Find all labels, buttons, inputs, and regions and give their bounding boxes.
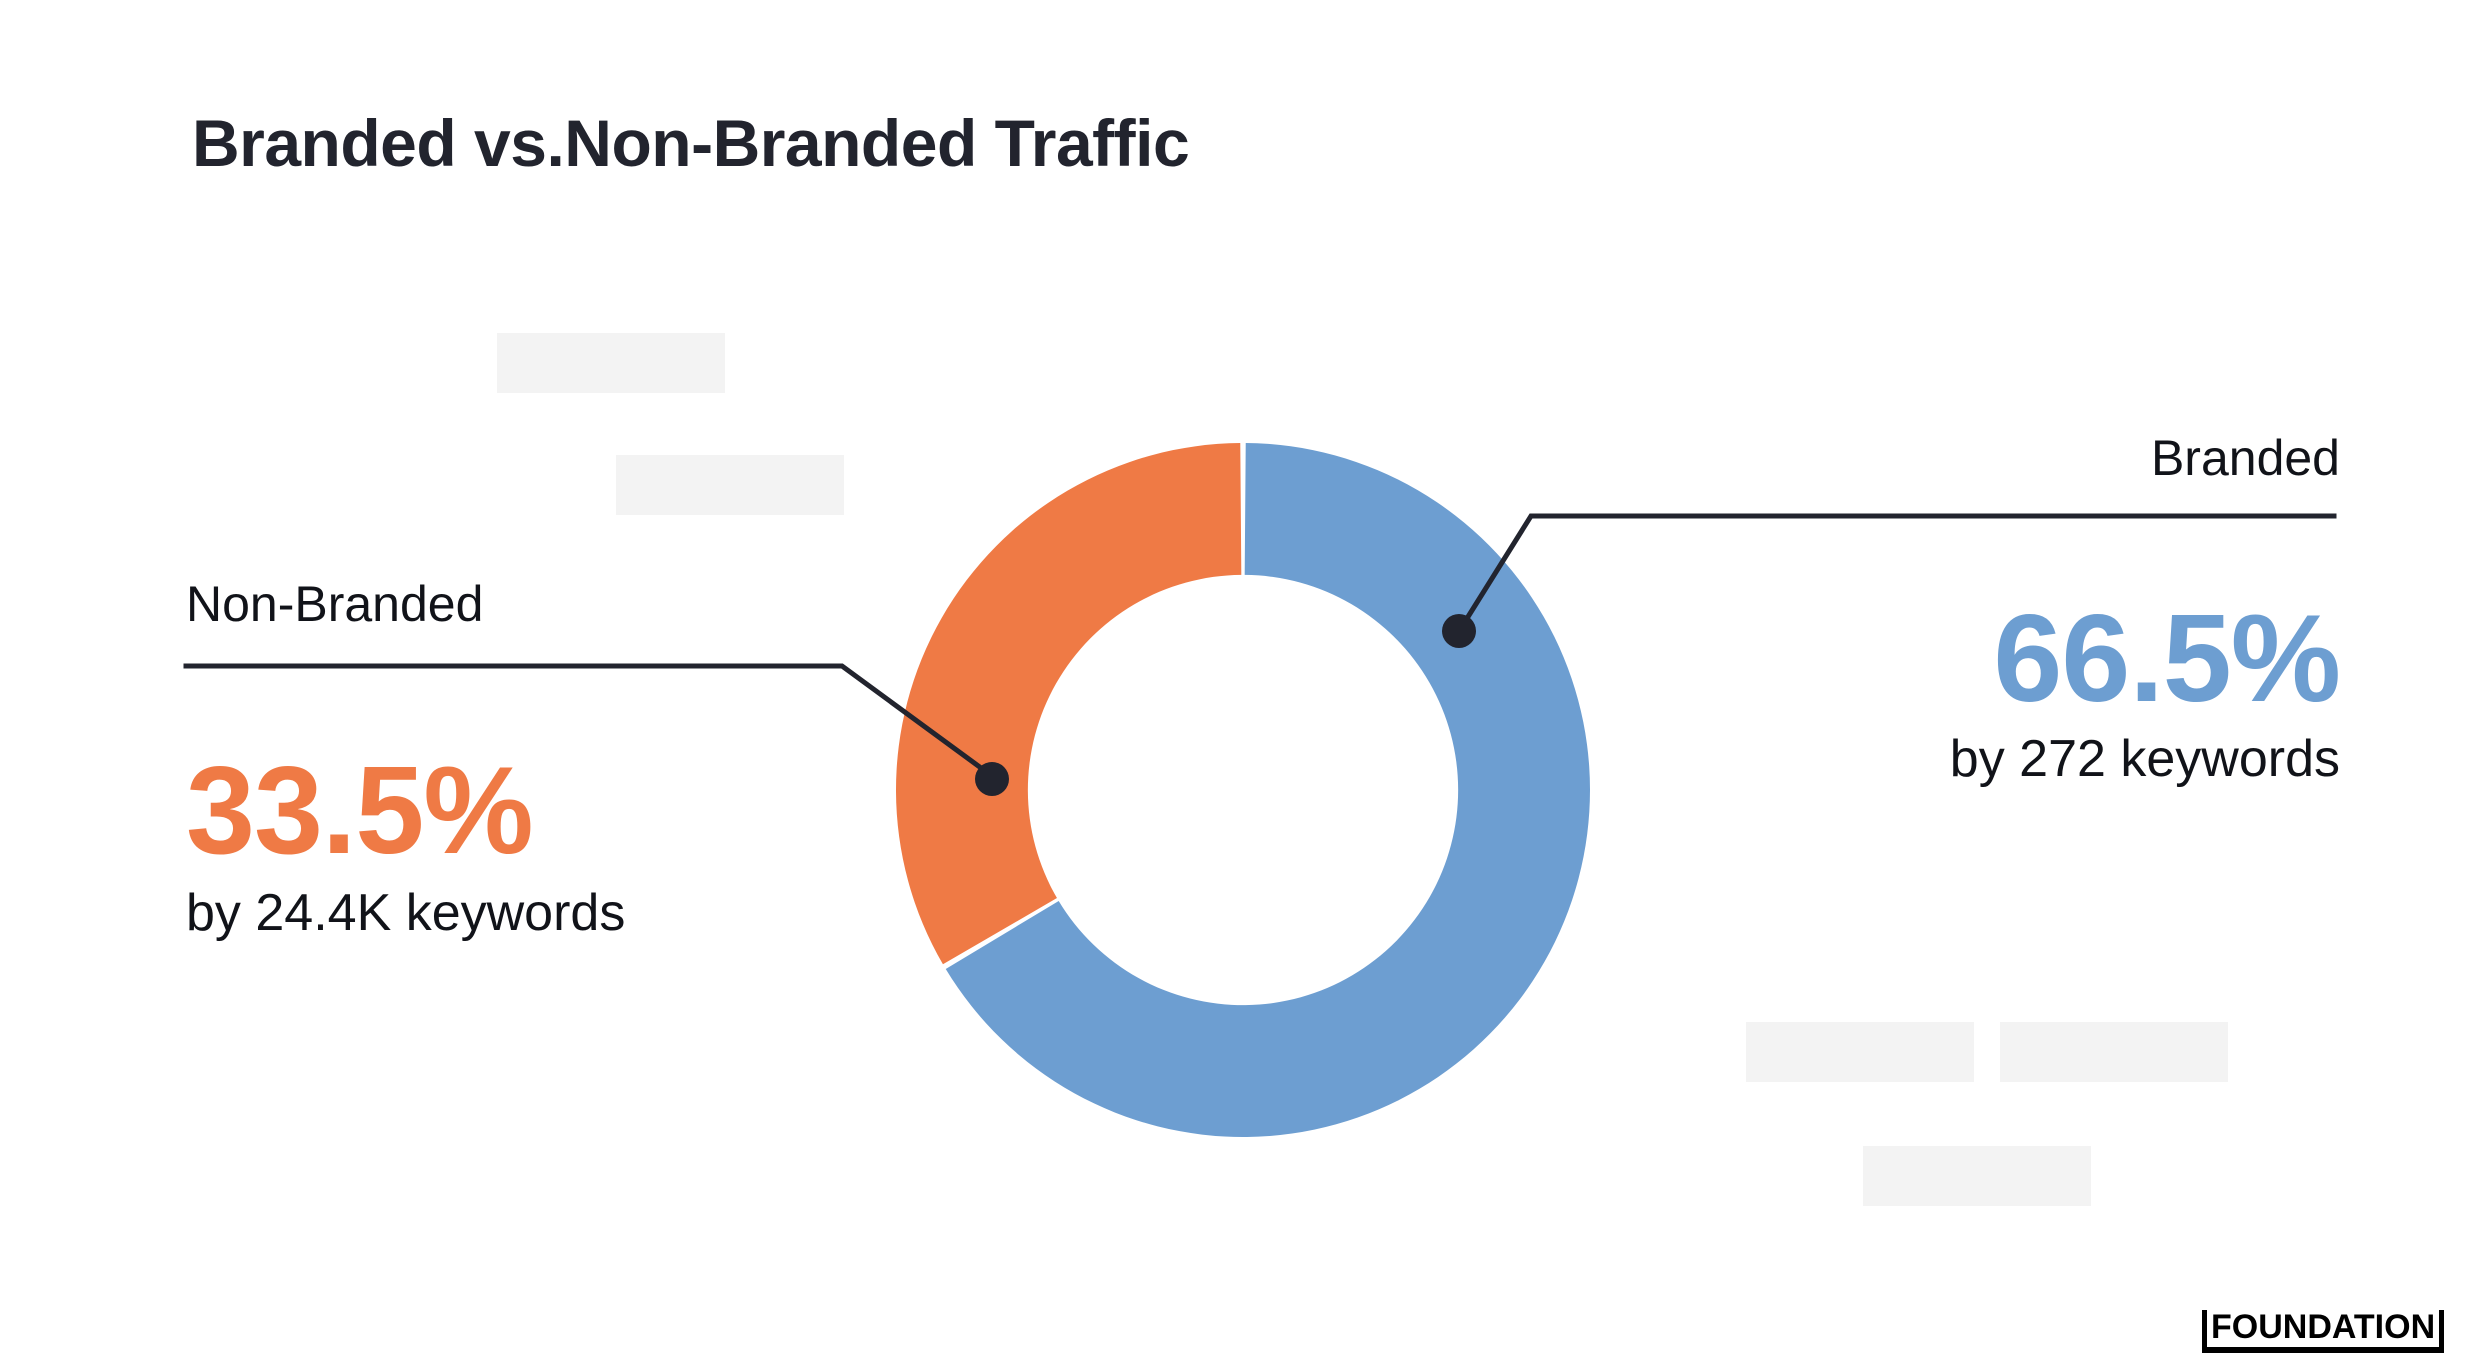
- placeholder-block-bottom-right-1: [1746, 1022, 1974, 1082]
- callout-non-branded: Non-Branded 33.5% by 24.4K keywords: [186, 578, 886, 942]
- callout-branded: Branded 66.5% by 272 keywords: [1540, 432, 2340, 788]
- foundation-logo: FOUNDATION: [2202, 1310, 2444, 1353]
- callout-subtext-non-branded: by 24.4K keywords: [186, 885, 886, 942]
- chart-canvas: Branded vs.Non-Branded Traffic Non-Brand…: [0, 0, 2480, 1370]
- placeholder-block-top-left-1: [497, 333, 725, 393]
- placeholder-block-top-left-2: [616, 455, 844, 515]
- callout-label-branded: Branded: [1540, 432, 2340, 485]
- placeholder-block-bottom-right-2: [2000, 1022, 2228, 1082]
- donut-slice-non-branded[interactable]: [896, 443, 1241, 964]
- callout-subtext-branded: by 272 keywords: [1540, 731, 2340, 788]
- callout-percent-non-branded: 33.5%: [186, 749, 886, 873]
- placeholder-block-bottom-right-3: [1863, 1146, 2091, 1206]
- callout-label-non-branded: Non-Branded: [186, 578, 886, 631]
- page-title: Branded vs.Non-Branded Traffic: [192, 110, 1189, 176]
- callout-percent-branded: 66.5%: [1540, 597, 2340, 721]
